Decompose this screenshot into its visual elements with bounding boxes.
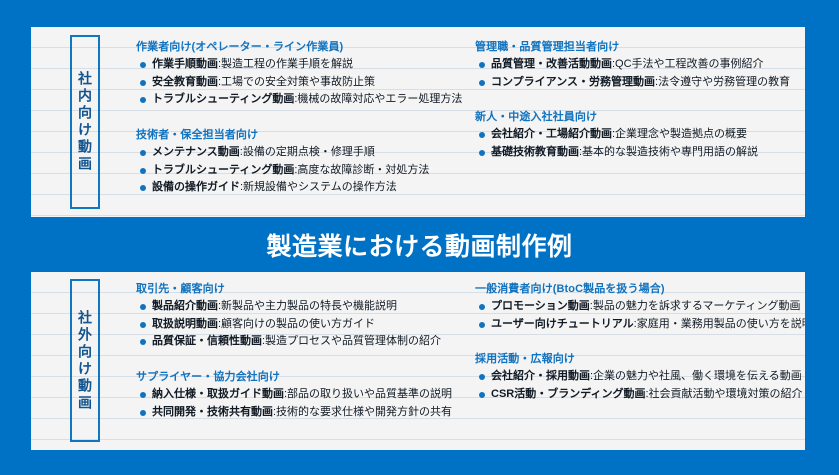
side-label-internal-text: 社内向け動画 <box>78 71 92 173</box>
group-heading-managers: 管理職・品質管理担当者向け <box>475 41 790 53</box>
list-item: 納入仕様・取扱ガイド動画:部品の取り扱いや品質基準の説明 <box>136 388 471 401</box>
list-recruiting: 会社紹介・採用動画:企業の魅力や社風、働く環境を伝える動画 CSR活動・ブランデ… <box>475 370 805 400</box>
column-external-left: 取引先・顧客向け 製品紹介動画:新製品や主力製品の特長や機能説明 取扱説明動画:… <box>132 272 471 450</box>
bullet-icon <box>479 304 485 310</box>
list-item-text: メンテナンス動画:設備の定期点検・修理手順 <box>152 146 375 159</box>
list-item-desc: :製品の魅力を訴求するマーケティング動画 <box>590 300 801 312</box>
group-recruiting: 採用活動・広報向け 会社紹介・採用動画:企業の魅力や社風、働く環境を伝える動画 … <box>475 334 805 400</box>
list-item: 会社紹介・工場紹介動画:企業理念や製造拠点の概要 <box>475 128 790 141</box>
list-item: トラブルシューティング動画:機械の故障対応やエラー処理方法 <box>136 93 471 106</box>
list-item-lead: 作業手順動画 <box>152 58 218 70</box>
group-engineers: 技術者・保全担当者向け メンテナンス動画:設備の定期点検・修理手順 トラブルシュ… <box>136 110 471 194</box>
list-item-lead: メンテナンス動画 <box>152 146 240 158</box>
list-item: 品質管理・改善活動動画:QC手法や工程改善の事例紹介 <box>475 58 790 71</box>
list-managers: 品質管理・改善活動動画:QC手法や工程改善の事例紹介 コンプライアンス・労務管理… <box>475 58 790 88</box>
list-item-text: 会社紹介・工場紹介動画:企業理念や製造拠点の概要 <box>491 128 747 141</box>
list-suppliers: 納入仕様・取扱ガイド動画:部品の取り扱いや品質基準の説明 共同開発・技術共有動画… <box>136 388 471 418</box>
side-label-internal: 社内向け動画 <box>70 35 100 209</box>
list-item: 設備の操作ガイド:新規設備やシステムの操作方法 <box>136 181 471 194</box>
list-item-text: コンプライアンス・労務管理動画:法令遵守や労務管理の教育 <box>491 76 790 89</box>
bullet-icon <box>140 168 146 174</box>
list-item-desc: :設備の定期点検・修理手順 <box>240 146 375 158</box>
list-item: ユーザー向けチュートリアル:家庭用・業務用製品の使い方を説明 <box>475 318 805 331</box>
list-item-text: 共同開発・技術共有動画:技術的な要求仕様や開発方針の共有 <box>152 406 452 419</box>
bullet-icon <box>140 304 146 310</box>
group-managers: 管理職・品質管理担当者向け 品質管理・改善活動動画:QC手法や工程改善の事例紹介… <box>475 27 790 88</box>
internal-columns: 作業者向け(オペレーター・ライン作業員) 作業手順動画:製造工程の作業手順を解説… <box>132 27 797 217</box>
list-item-text: 作業手順動画:製造工程の作業手順を解説 <box>152 58 353 71</box>
list-item-lead: 品質管理・改善活動動画 <box>491 58 612 70</box>
list-item-lead: 納入仕様・取扱ガイド動画 <box>152 388 284 400</box>
list-item-desc: :技術的な要求仕様や開発方針の共有 <box>273 406 452 418</box>
list-item-lead: 安全教育動画 <box>152 76 218 88</box>
group-clients: 取引先・顧客向け 製品紹介動画:新製品や主力製品の特長や機能説明 取扱説明動画:… <box>136 272 471 348</box>
group-heading-recruiting: 採用活動・広報向け <box>475 353 805 365</box>
column-internal-right: 管理職・品質管理担当者向け 品質管理・改善活動動画:QC手法や工程改善の事例紹介… <box>471 27 790 217</box>
column-external-right: 一般消費者向け(BtoC製品を扱う場合) プロモーション動画:製品の魅力を訴求す… <box>471 272 805 450</box>
list-item-lead: 基礎技術教育動画 <box>491 146 579 158</box>
list-item: トラブルシューティング動画:高度な故障診断・対処方法 <box>136 164 471 177</box>
list-item-desc: :新規設備やシステムの操作方法 <box>240 181 397 193</box>
list-item-text: トラブルシューティング動画:機械の故障対応やエラー処理方法 <box>152 93 462 106</box>
bullet-icon <box>479 392 485 398</box>
bullet-icon <box>140 410 146 416</box>
list-item: メンテナンス動画:設備の定期点検・修理手順 <box>136 146 471 159</box>
list-item: 会社紹介・採用動画:企業の魅力や社風、働く環境を伝える動画 <box>475 370 805 383</box>
list-item: 品質保証・信頼性動画:製造プロセスや品質管理体制の紹介 <box>136 335 471 348</box>
bullet-icon <box>140 62 146 68</box>
list-item-text: 品質管理・改善活動動画:QC手法や工程改善の事例紹介 <box>491 58 764 71</box>
list-item: 取扱説明動画:顧客向けの製品の使い方ガイド <box>136 318 471 331</box>
list-item-desc: :QC手法や工程改善の事例紹介 <box>612 58 764 70</box>
list-item: 基礎技術教育動画:基本的な製造技術や専門用語の解説 <box>475 146 790 159</box>
group-suppliers: サプライヤー・協力会社向け 納入仕様・取扱ガイド動画:部品の取り扱いや品質基準の… <box>136 352 471 418</box>
bullet-icon <box>479 132 485 138</box>
bullet-icon <box>479 80 485 86</box>
list-item-lead: プロモーション動画 <box>491 300 590 312</box>
column-internal-left: 作業者向け(オペレーター・ライン作業員) 作業手順動画:製造工程の作業手順を解説… <box>132 27 471 217</box>
list-item-lead: 共同開発・技術共有動画 <box>152 406 273 418</box>
list-item-lead: 品質保証・信頼性動画 <box>152 335 262 347</box>
list-item: 共同開発・技術共有動画:技術的な要求仕様や開発方針の共有 <box>136 406 471 419</box>
group-heading-new-hires: 新人・中途入社社員向け <box>475 111 790 123</box>
list-item-desc: :社会貢献活動や環境対策の紹介 <box>645 388 802 400</box>
list-item-text: 品質保証・信頼性動画:製造プロセスや品質管理体制の紹介 <box>152 335 441 348</box>
list-item-lead: 設備の操作ガイド <box>152 181 240 193</box>
bullet-icon <box>479 322 485 328</box>
list-item-desc: :企業理念や製造拠点の概要 <box>612 128 747 140</box>
bullet-icon <box>140 97 146 103</box>
bullet-icon <box>479 150 485 156</box>
list-item-desc: :顧客向けの製品の使い方ガイド <box>218 318 375 330</box>
list-item-text: CSR活動・ブランディング動画:社会貢献活動や環境対策の紹介 <box>491 388 803 401</box>
list-item-desc: :機械の故障対応やエラー処理方法 <box>294 93 462 105</box>
list-item-text: 設備の操作ガイド:新規設備やシステムの操作方法 <box>152 181 397 194</box>
list-item-desc: :部品の取り扱いや品質基準の説明 <box>284 388 452 400</box>
list-item-desc: :製造プロセスや品質管理体制の紹介 <box>262 335 441 347</box>
list-item-text: トラブルシューティング動画:高度な故障診断・対処方法 <box>152 164 429 177</box>
bullet-icon <box>140 185 146 191</box>
list-consumers: プロモーション動画:製品の魅力を訴求するマーケティング動画 ユーザー向けチュート… <box>475 300 805 330</box>
list-clients: 製品紹介動画:新製品や主力製品の特長や機能説明 取扱説明動画:顧客向けの製品の使… <box>136 300 471 348</box>
bullet-icon <box>140 339 146 345</box>
list-item-desc: :新製品や主力製品の特長や機能説明 <box>218 300 397 312</box>
list-item-lead: 会社紹介・工場紹介動画 <box>491 128 612 140</box>
list-item-desc: :工場での安全対策や事故防止策 <box>218 76 375 88</box>
list-item-lead: 製品紹介動画 <box>152 300 218 312</box>
list-operators: 作業手順動画:製造工程の作業手順を解説 安全教育動画:工場での安全対策や事故防止… <box>136 58 471 106</box>
list-item-desc: :企業の魅力や社風、働く環境を伝える動画 <box>590 370 802 382</box>
list-item-text: プロモーション動画:製品の魅力を訴求するマーケティング動画 <box>491 300 801 313</box>
group-new-hires: 新人・中途入社社員向け 会社紹介・工場紹介動画:企業理念や製造拠点の概要 基礎技… <box>475 92 790 158</box>
list-item-text: 取扱説明動画:顧客向けの製品の使い方ガイド <box>152 318 375 331</box>
list-item-text: 納入仕様・取扱ガイド動画:部品の取り扱いや品質基準の説明 <box>152 388 452 401</box>
list-item: コンプライアンス・労務管理動画:法令遵守や労務管理の教育 <box>475 76 790 89</box>
list-item-text: 安全教育動画:工場での安全対策や事故防止策 <box>152 76 375 89</box>
infographic-root: { "theme": { "frame_blue": "#0072c6", "h… <box>0 0 839 475</box>
list-item-desc: :製造工程の作業手順を解説 <box>218 58 353 70</box>
group-operators: 作業者向け(オペレーター・ライン作業員) 作業手順動画:製造工程の作業手順を解説… <box>136 27 471 106</box>
list-item-lead: 会社紹介・採用動画 <box>491 370 590 382</box>
section-internal-videos: 社内向け動画 作業者向け(オペレーター・ライン作業員) 作業手順動画:製造工程の… <box>31 27 805 217</box>
page-title: 製造業における動画制作例 <box>266 227 572 263</box>
bullet-icon <box>140 392 146 398</box>
side-label-external-text: 社外向け動画 <box>78 310 92 412</box>
external-columns: 取引先・顧客向け 製品紹介動画:新製品や主力製品の特長や機能説明 取扱説明動画:… <box>132 272 797 450</box>
list-new-hires: 会社紹介・工場紹介動画:企業理念や製造拠点の概要 基礎技術教育動画:基本的な製造… <box>475 128 790 158</box>
list-item-desc: :高度な故障診断・対処方法 <box>294 164 429 176</box>
bullet-icon <box>479 374 485 380</box>
bullet-icon <box>140 80 146 86</box>
list-item-lead: コンプライアンス・労務管理動画 <box>491 76 655 88</box>
section-external-videos: 社外向け動画 取引先・顧客向け 製品紹介動画:新製品や主力製品の特長や機能説明 … <box>31 272 805 450</box>
list-item-lead: CSR活動・ブランディング動画 <box>491 388 645 400</box>
list-item-desc: :法令遵守や労務管理の教育 <box>655 76 790 88</box>
bullet-icon <box>140 150 146 156</box>
list-item-text: 製品紹介動画:新製品や主力製品の特長や機能説明 <box>152 300 397 313</box>
group-heading-suppliers: サプライヤー・協力会社向け <box>136 371 471 383</box>
list-item-lead: 取扱説明動画 <box>152 318 218 330</box>
list-item-desc: :家庭用・業務用製品の使い方を説明 <box>634 318 805 330</box>
list-item: 安全教育動画:工場での安全対策や事故防止策 <box>136 76 471 89</box>
group-heading-operators: 作業者向け(オペレーター・ライン作業員) <box>136 41 471 53</box>
list-item: CSR活動・ブランディング動画:社会貢献活動や環境対策の紹介 <box>475 388 805 401</box>
list-item: 製品紹介動画:新製品や主力製品の特長や機能説明 <box>136 300 471 313</box>
bullet-icon <box>479 62 485 68</box>
list-engineers: メンテナンス動画:設備の定期点検・修理手順 トラブルシューティング動画:高度な故… <box>136 146 471 194</box>
bullet-icon <box>140 322 146 328</box>
group-consumers: 一般消費者向け(BtoC製品を扱う場合) プロモーション動画:製品の魅力を訴求す… <box>475 272 805 330</box>
list-item-text: 会社紹介・採用動画:企業の魅力や社風、働く環境を伝える動画 <box>491 370 802 383</box>
list-item: 作業手順動画:製造工程の作業手順を解説 <box>136 58 471 71</box>
list-item-lead: ユーザー向けチュートリアル <box>491 318 634 330</box>
list-item-text: ユーザー向けチュートリアル:家庭用・業務用製品の使い方を説明 <box>491 318 805 331</box>
side-label-external: 社外向け動画 <box>70 279 100 442</box>
main-title-band: 製造業における動画制作例 <box>0 217 839 272</box>
list-item-lead: トラブルシューティング動画 <box>152 93 294 105</box>
list-item-lead: トラブルシューティング動画 <box>152 164 294 176</box>
list-item-desc: :基本的な製造技術や専門用語の解説 <box>579 146 758 158</box>
list-item-text: 基礎技術教育動画:基本的な製造技術や専門用語の解説 <box>491 146 758 159</box>
list-item: プロモーション動画:製品の魅力を訴求するマーケティング動画 <box>475 300 805 313</box>
group-heading-clients: 取引先・顧客向け <box>136 283 471 295</box>
group-heading-consumers: 一般消費者向け(BtoC製品を扱う場合) <box>475 283 805 295</box>
group-heading-engineers: 技術者・保全担当者向け <box>136 129 471 141</box>
